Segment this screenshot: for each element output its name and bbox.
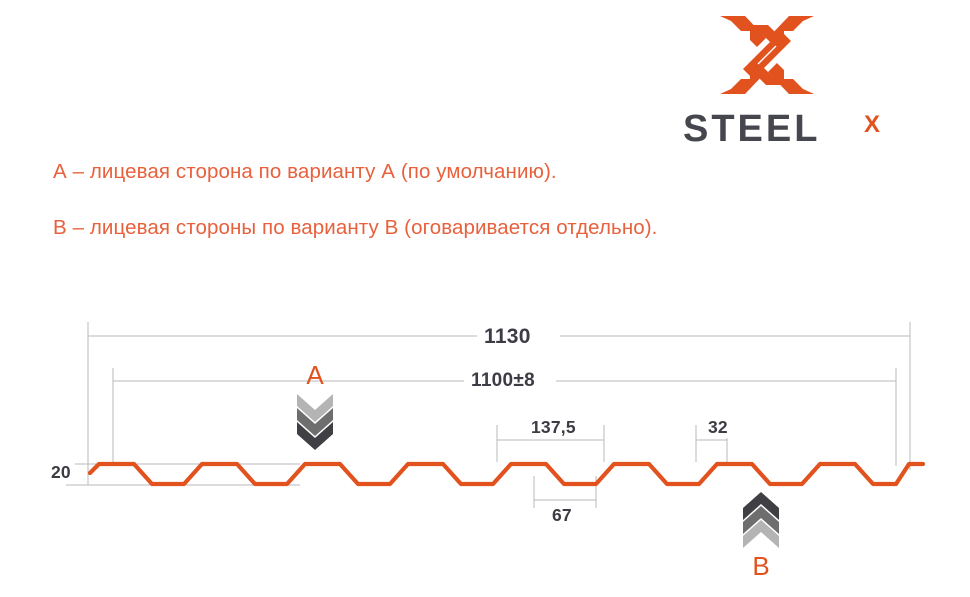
profile-technical-drawing: [0, 0, 970, 597]
dimension-label-crest-width: 32: [701, 417, 735, 438]
marker-a-letter: А: [287, 362, 343, 388]
dimension-label-valley-width: 67: [545, 505, 579, 526]
corrugated-profile-path: [90, 464, 923, 484]
marker-b-letter: В: [733, 553, 789, 579]
chevron-down-triple-icon: [287, 392, 343, 450]
dimension-label-wave-pitch: 137,5: [524, 417, 583, 438]
chevron-up-triple-icon: [733, 492, 789, 550]
dimension-label-total-width: 1130: [477, 325, 538, 349]
dimension-label-profile-height: 20: [47, 462, 75, 483]
dimension-label-useful-width: 1100±8: [464, 370, 542, 392]
side-marker-a: А: [287, 362, 343, 450]
side-marker-b: В: [733, 492, 789, 579]
